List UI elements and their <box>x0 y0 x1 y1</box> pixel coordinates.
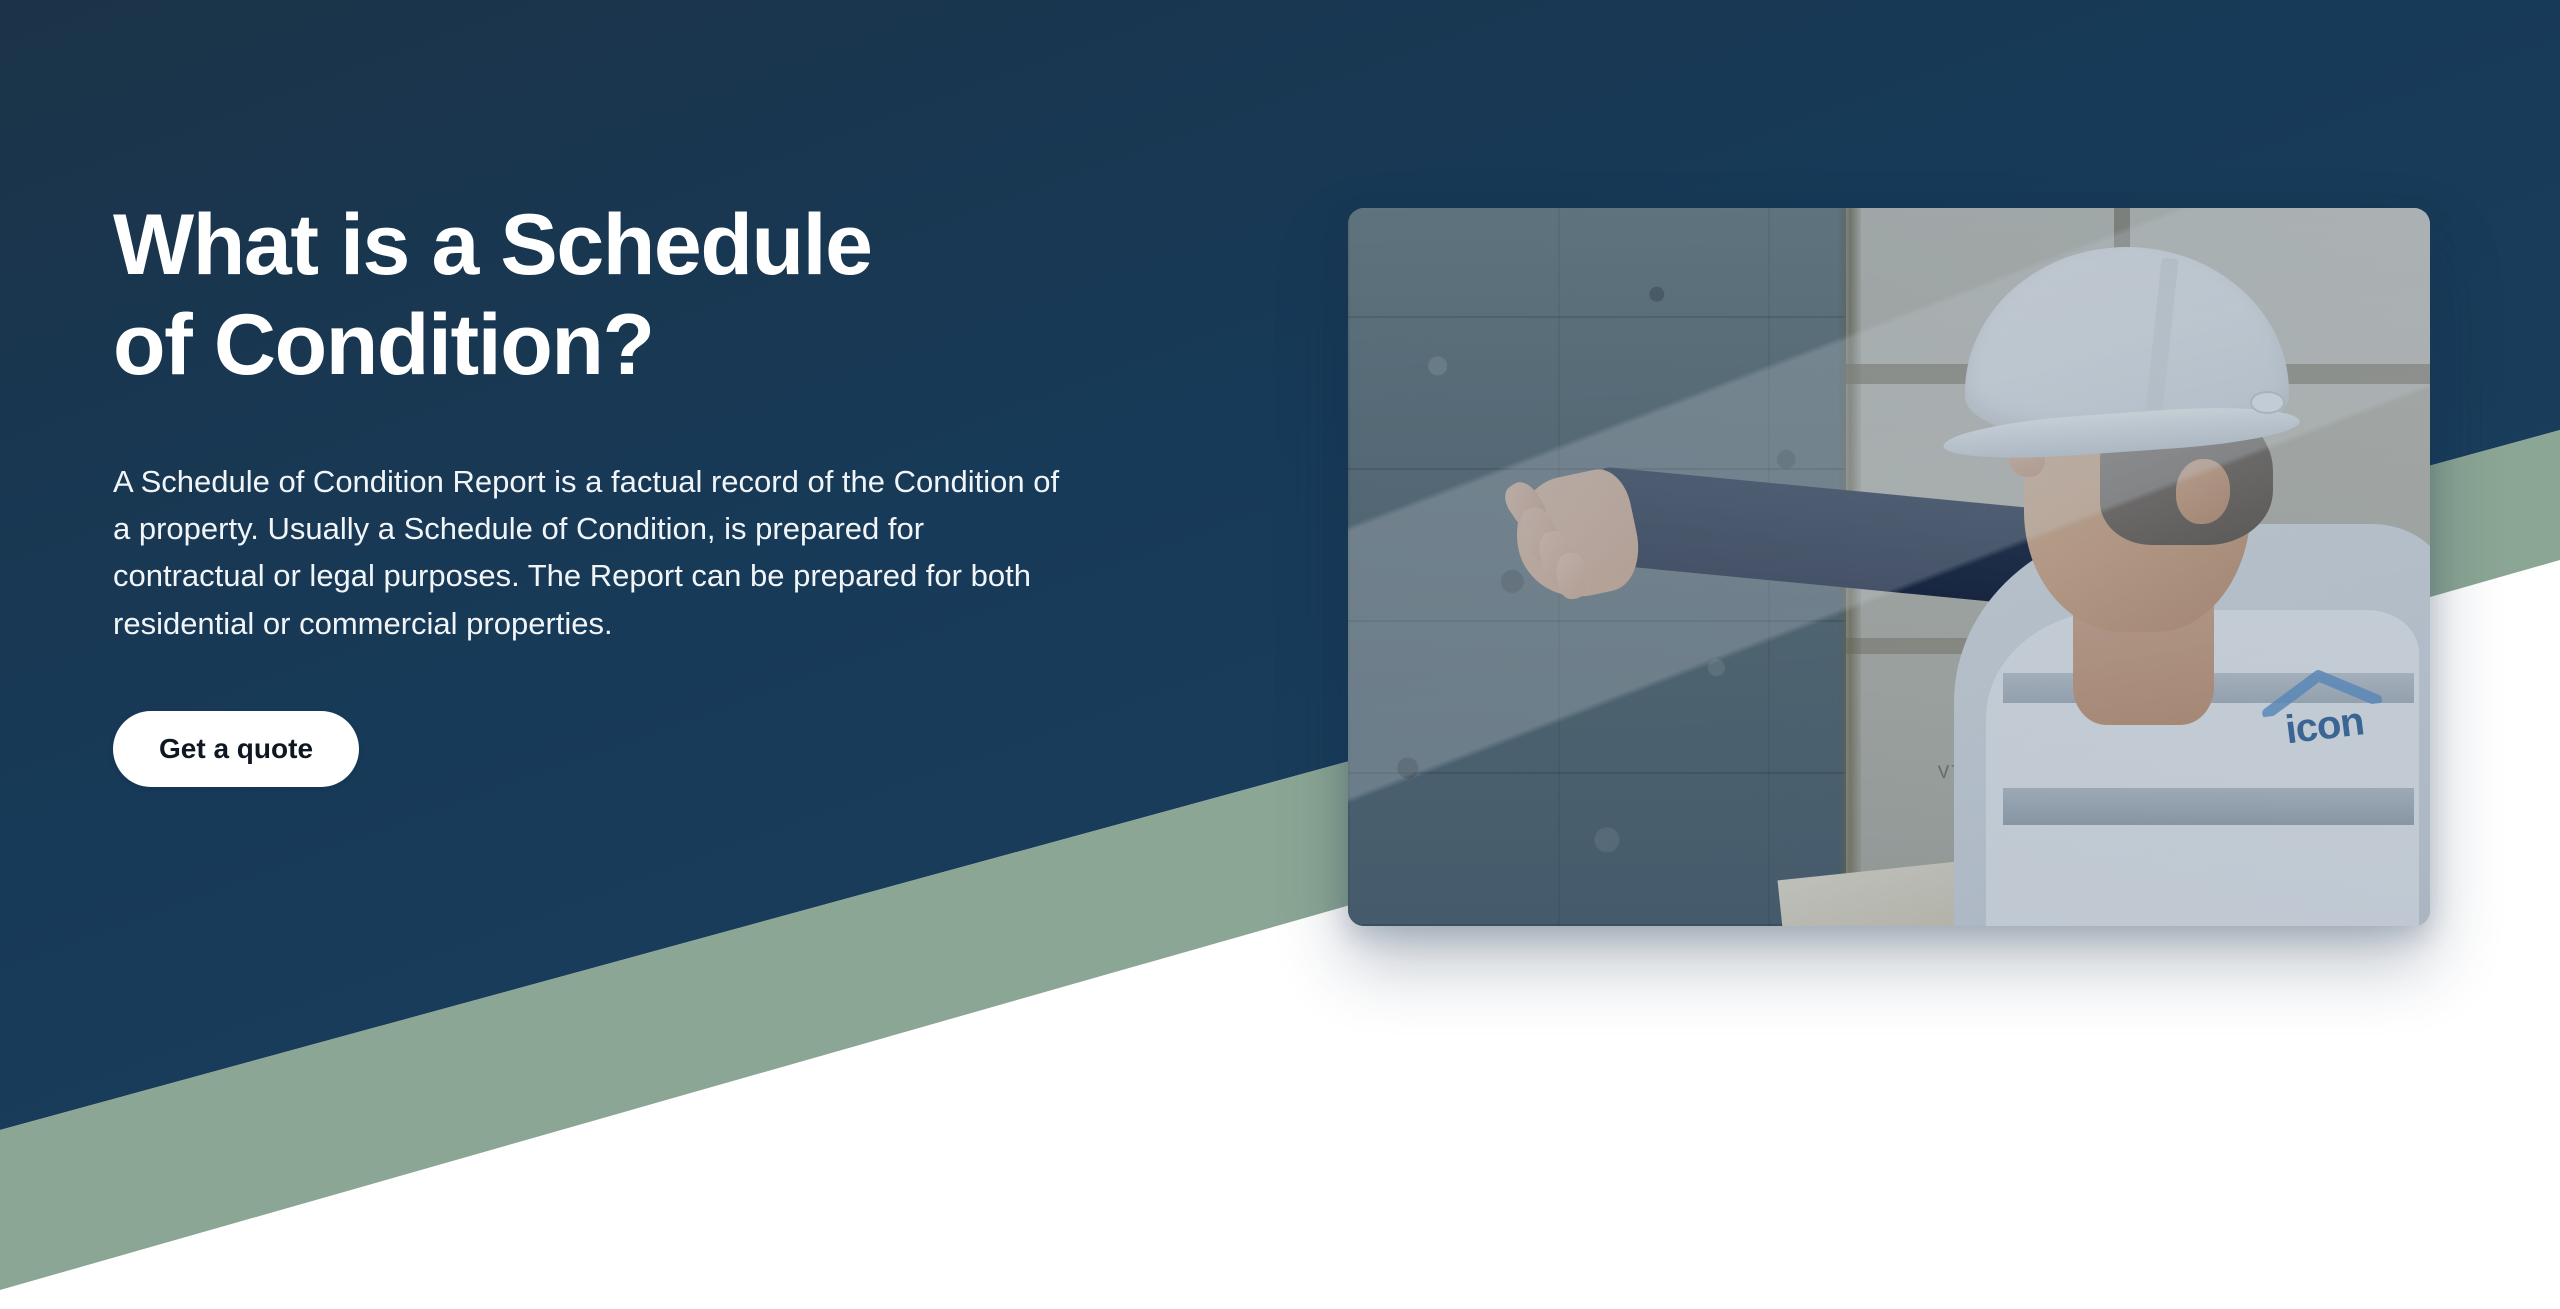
headline-line-1: What is a Schedule <box>113 196 1233 296</box>
hero-section: What is a Schedule of Condition? A Sched… <box>0 0 2560 1309</box>
hard-hat-vent <box>2250 391 2285 414</box>
description-line-4: residential or commercial properties. <box>113 600 1213 647</box>
icon-brand-logo: icon <box>2256 661 2389 754</box>
description-line-2: a property. Usually a Schedule of Condit… <box>113 505 1213 552</box>
surveyor-figure: icon <box>1348 208 2430 926</box>
headline-line-2: of Condition? <box>113 296 1233 396</box>
get-a-quote-button[interactable]: Get a quote <box>113 711 359 787</box>
surveyor-photo: V70204 4.0 <box>1348 208 2430 926</box>
vest-reflective-band-lower <box>2003 788 2414 825</box>
hero-content: What is a Schedule of Condition? A Sched… <box>113 196 1233 787</box>
hero-image-card: V70204 4.0 <box>1348 208 2430 926</box>
description-line-3: contractual or legal purposes. The Repor… <box>113 552 1213 599</box>
ear <box>2176 459 2230 524</box>
hero-description: A Schedule of Condition Report is a fact… <box>113 458 1213 648</box>
page-title: What is a Schedule of Condition? <box>113 196 1233 396</box>
description-line-1: A Schedule of Condition Report is a fact… <box>113 458 1213 505</box>
